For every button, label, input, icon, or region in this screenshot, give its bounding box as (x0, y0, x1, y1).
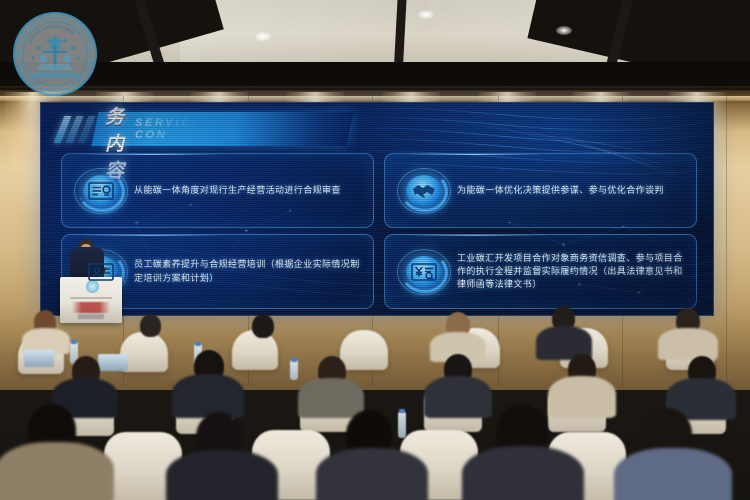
audience-head (252, 314, 274, 338)
audience (0, 300, 750, 500)
water-bottle (290, 360, 298, 380)
audience-shoulders (614, 448, 732, 500)
bottle-cap (291, 358, 297, 362)
screen-vignette (41, 103, 713, 315)
bottle-cap (399, 409, 405, 413)
laptop (24, 350, 54, 367)
laptop (98, 354, 128, 371)
ceiling-light (255, 32, 271, 41)
audience-shoulders (462, 446, 584, 500)
water-bottle (398, 412, 406, 438)
led-presentation-screen: 服务内容 SERVICE CON (40, 102, 714, 316)
ceiling-light (556, 26, 572, 35)
podium-divider (70, 297, 112, 299)
audience-shoulders (424, 376, 492, 418)
audience-shoulders (316, 448, 428, 500)
audience-shoulders (298, 378, 364, 418)
podium-emblem-icon (86, 280, 99, 293)
ceiling-light (418, 10, 434, 19)
audience-shoulders (0, 442, 114, 500)
bottle-cap (195, 342, 201, 346)
audience-shoulders (166, 450, 278, 500)
bottle-cap (71, 340, 77, 344)
logo-emblem-icon: 中国环境法律服务产业联盟 (13, 12, 97, 96)
conference-watermark-logo: 中国环境法律服务产业联盟 (13, 12, 97, 96)
room-background: 服务内容 SERVICE CON (0, 0, 750, 500)
conference-photo: 服务内容 SERVICE CON (0, 0, 750, 500)
audience-shoulders (548, 376, 616, 418)
audience-shoulders (172, 374, 244, 418)
chair (340, 330, 388, 370)
audience-head (140, 314, 161, 337)
audience-shoulders (658, 328, 718, 360)
